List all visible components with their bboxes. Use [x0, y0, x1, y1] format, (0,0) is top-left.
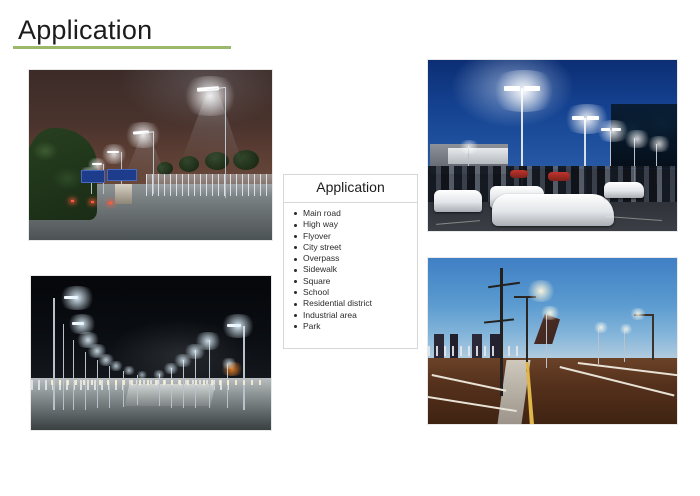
list-item: Square — [290, 276, 417, 287]
street-lamp-head — [72, 322, 84, 325]
road-fence — [146, 174, 272, 196]
vehicle-taillight — [109, 202, 112, 204]
page-title: Application — [18, 14, 152, 46]
list-item: Main road — [290, 208, 417, 219]
list-item: Sidewalk — [290, 264, 417, 275]
car-red — [510, 170, 528, 178]
median-barrier — [125, 384, 216, 406]
road-sign-blue — [81, 170, 105, 183]
photo-overpass — [428, 258, 677, 424]
street-lamp-pole — [123, 371, 124, 407]
street-lamp-arm — [514, 296, 536, 298]
distant-warm-light — [219, 362, 245, 376]
street-lamp-pole — [195, 350, 196, 408]
parking-lamp-head — [504, 86, 520, 91]
photo-main-road — [29, 70, 272, 240]
street-lamp-pole — [73, 340, 74, 410]
list-item: Flyover — [290, 231, 417, 242]
application-card-body: Main road High way Flyover City street O… — [283, 203, 418, 349]
road-sign-blue — [107, 169, 137, 181]
car-white — [604, 182, 644, 198]
vehicle-taillight — [71, 200, 74, 202]
street-lamp-pole — [225, 88, 226, 198]
street-lamp-pole — [526, 296, 528, 372]
street-lamp-pole — [63, 324, 64, 410]
application-card-title: Application — [316, 179, 385, 195]
street-lamp-pole — [243, 326, 245, 410]
car-white — [434, 190, 482, 212]
overpass-guardrail — [428, 346, 524, 356]
highway-scene — [31, 276, 271, 430]
overpass-road-surface — [428, 358, 677, 424]
street-lamp-pole — [500, 268, 503, 396]
street-lamp-pole — [546, 314, 547, 368]
street-lamp-head — [227, 324, 241, 327]
street-lamp-pole — [209, 340, 210, 408]
car-white-foreground — [492, 194, 614, 226]
overpass-scene — [428, 258, 677, 424]
title-underline-rule — [13, 46, 231, 49]
street-lamp-pole — [624, 330, 625, 362]
street-lamp-pole — [171, 368, 172, 408]
distant-lights — [51, 380, 261, 385]
parking-lamp-head — [587, 116, 599, 120]
list-item: School — [290, 287, 417, 298]
list-item: Industrial area — [290, 310, 417, 321]
main-road-scene — [29, 70, 272, 240]
street-lamp-pole — [153, 132, 154, 194]
tree-icon — [233, 150, 259, 170]
street-lamp-pole — [109, 366, 110, 408]
parking-lamp-head — [612, 128, 621, 131]
bus-vehicle — [115, 184, 132, 204]
street-lamp-pole — [652, 314, 654, 360]
treeline — [611, 104, 677, 168]
street-lamp-arm — [634, 314, 654, 316]
street-lamp-pole — [53, 298, 55, 410]
tree-icon — [179, 156, 199, 172]
application-card-header: Application — [283, 174, 418, 203]
application-card: Application Main road High way Flyover C… — [283, 174, 418, 349]
showroom-facade — [448, 148, 508, 164]
parking-lamp-head — [572, 116, 584, 120]
application-list: Main road High way Flyover City street O… — [290, 208, 417, 332]
list-item: High way — [290, 219, 417, 230]
street-lamp-pole — [227, 364, 228, 408]
car-red — [548, 172, 570, 181]
street-lamp-pole — [159, 374, 160, 406]
photo-parking-lot — [428, 60, 677, 231]
vehicle-taillight — [91, 201, 94, 203]
list-item: Overpass — [290, 253, 417, 264]
street-lamp-pole — [598, 328, 599, 364]
parking-lamp-head — [524, 86, 540, 91]
photo-highway — [31, 276, 271, 430]
parking-lot-scene — [428, 60, 677, 231]
list-item: Residential district — [290, 298, 417, 309]
parking-lamp-head — [601, 128, 610, 131]
list-item: City street — [290, 242, 417, 253]
list-item: Park — [290, 321, 417, 332]
street-lamp-head — [64, 296, 78, 299]
street-lamp-head — [92, 163, 102, 165]
